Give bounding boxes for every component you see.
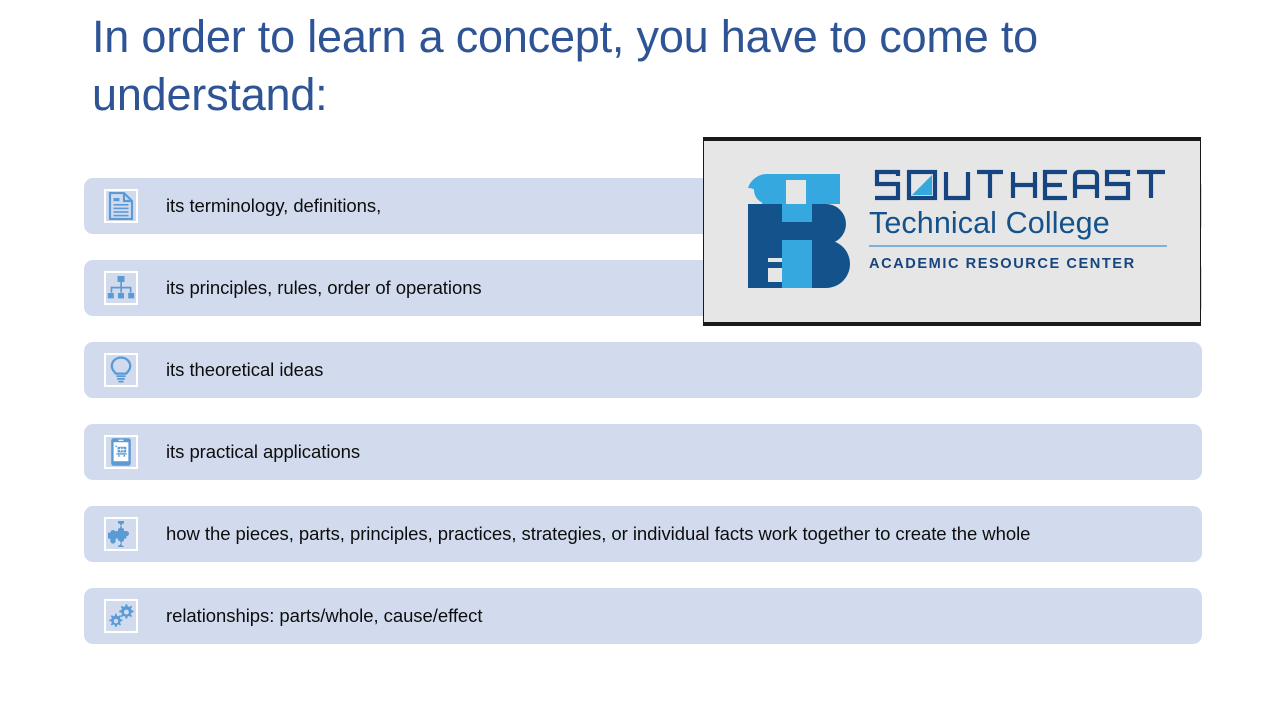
logo-divider (869, 245, 1167, 247)
mobile-cart-icon (104, 435, 138, 469)
list-item[interactable]: its practical applications (84, 424, 1202, 480)
list-item[interactable]: relationships: parts/whole, cause/effect (84, 588, 1202, 644)
list-item[interactable]: how the pieces, parts, principles, pract… (84, 506, 1202, 562)
list-item-label: its practical applications (166, 441, 360, 463)
page-title: In order to learn a concept, you have to… (92, 8, 1162, 124)
gears-icon (104, 599, 138, 633)
puzzle-piece-icon (104, 517, 138, 551)
document-icon (104, 189, 138, 223)
list-item[interactable]: its theoretical ideas (84, 342, 1202, 398)
list-item-label: how the pieces, parts, principles, pract… (166, 523, 1030, 545)
logo-subtitle: ACADEMIC RESOURCE CENTER (869, 256, 1171, 272)
list-item-label: its theoretical ideas (166, 359, 323, 381)
interlocking-s-monogram-icon (734, 168, 856, 294)
logo-tagline: Technical College (869, 206, 1171, 240)
lightbulb-icon (104, 353, 138, 387)
southeast-technical-college-logo: Technical College ACADEMIC RESOURCE CENT… (703, 137, 1201, 326)
list-item-label: its principles, rules, order of operatio… (166, 277, 482, 299)
logo-contents: Technical College ACADEMIC RESOURCE CENT… (734, 165, 1174, 303)
list-item-label: its terminology, definitions, (166, 195, 381, 217)
org-chart-icon (104, 271, 138, 305)
list-item-label: relationships: parts/whole, cause/effect (166, 605, 482, 627)
logo-wordmark-group: Technical College ACADEMIC RESOURCE CENT… (869, 165, 1171, 272)
southeast-wordmark (869, 167, 1171, 203)
